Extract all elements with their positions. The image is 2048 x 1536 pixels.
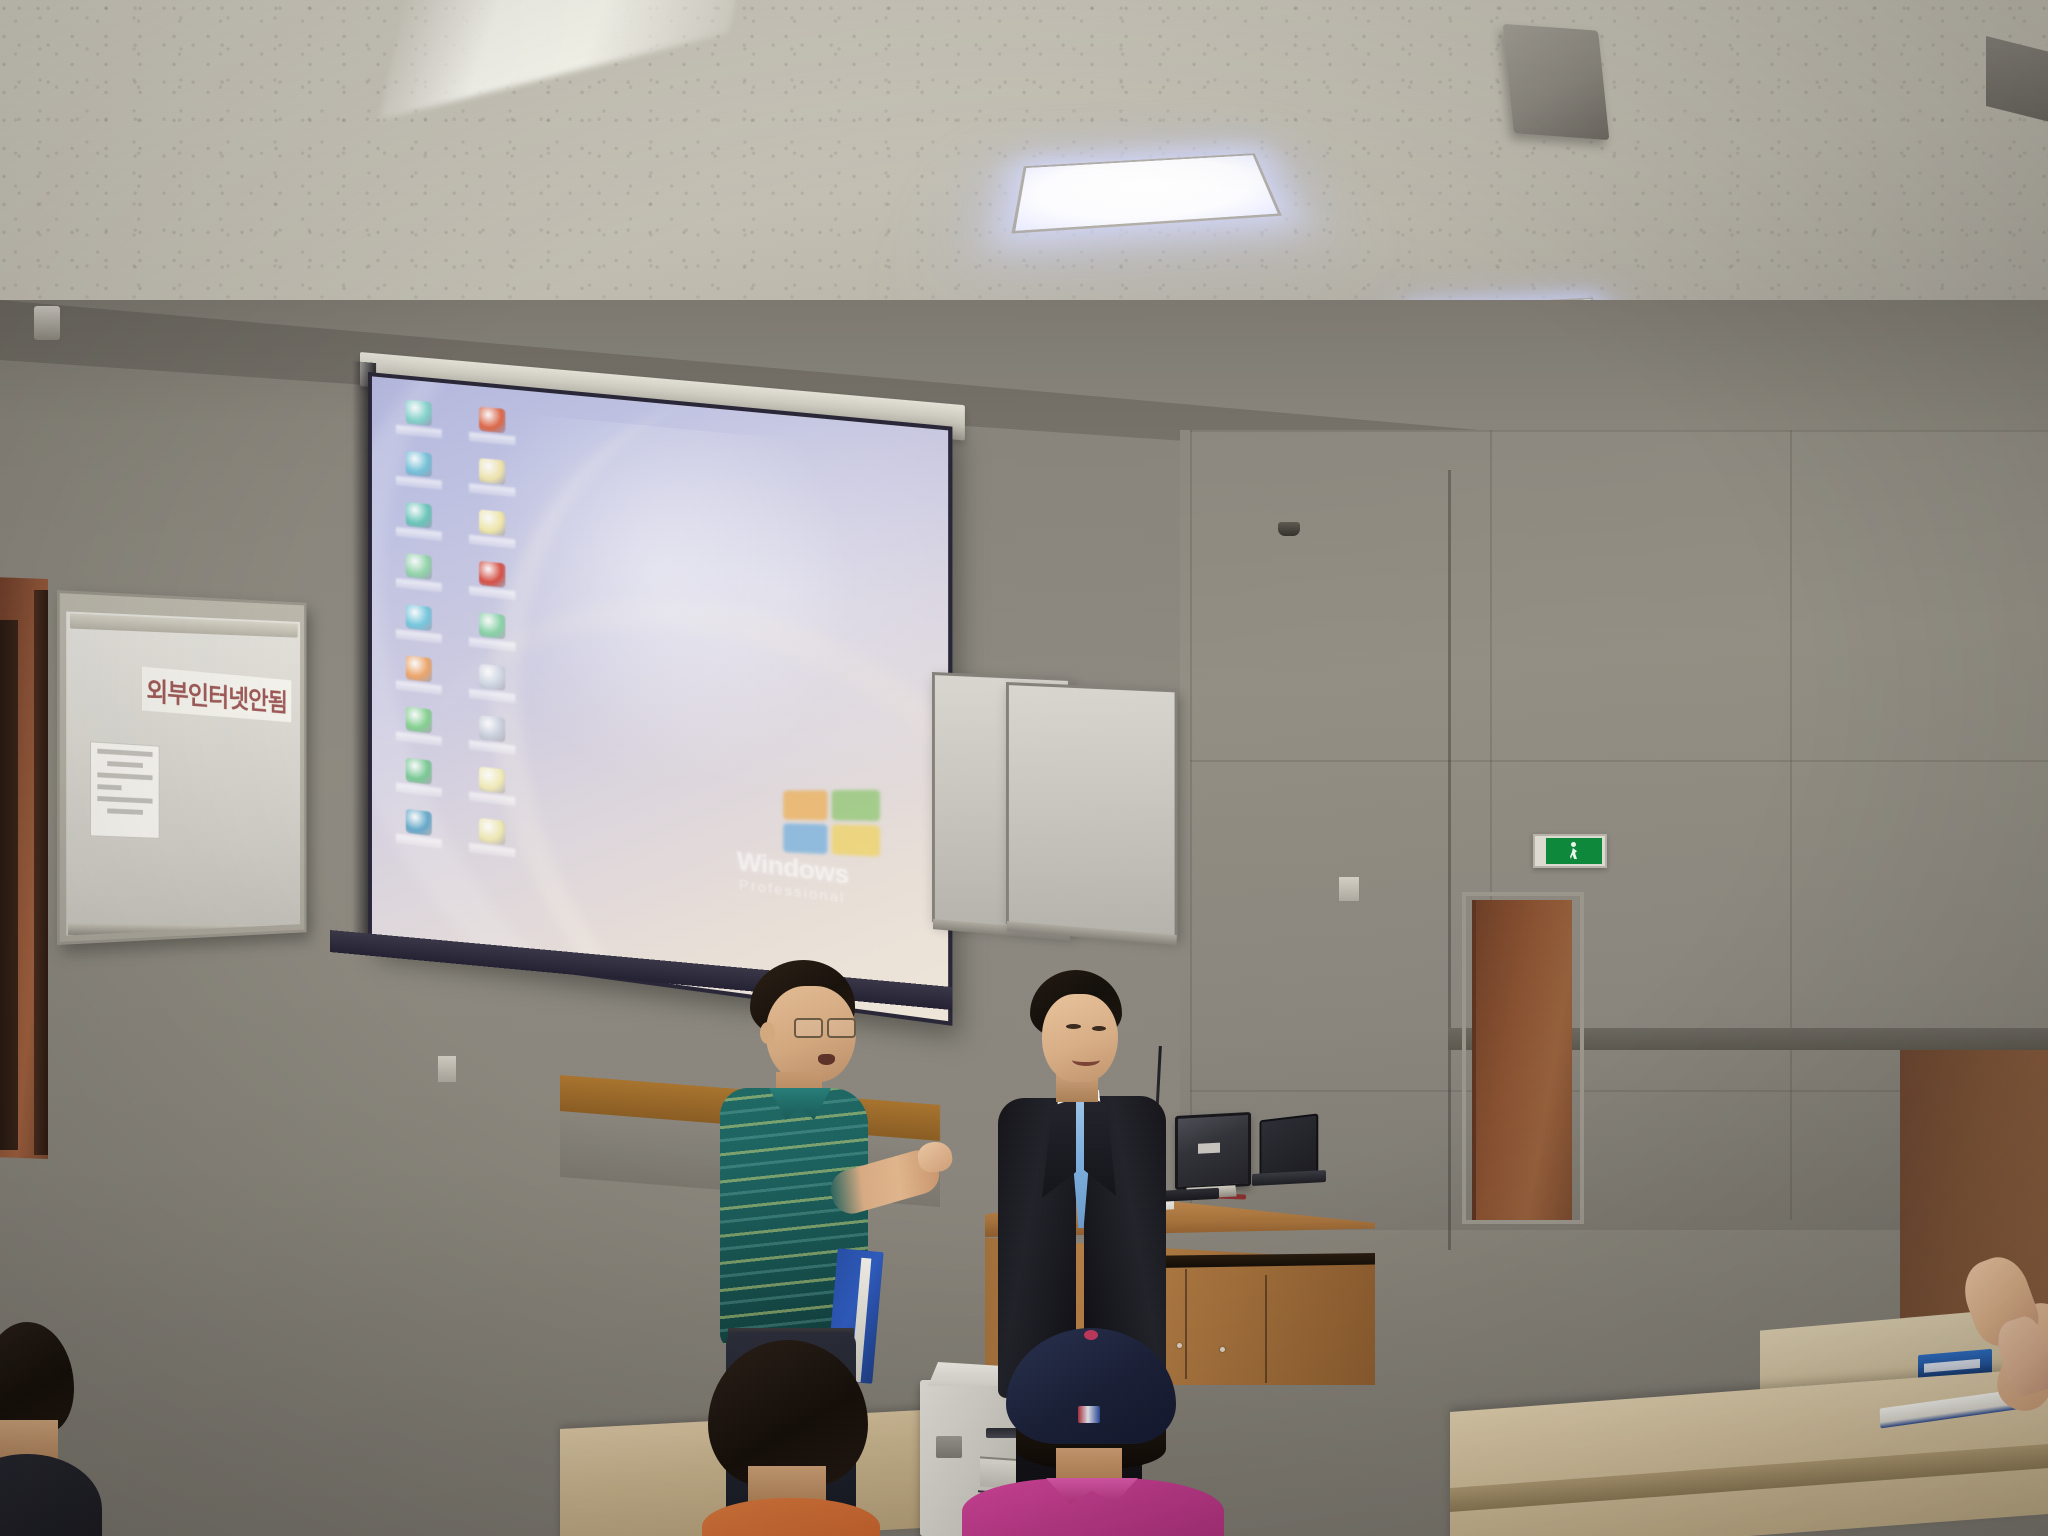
exit-sign bbox=[1533, 834, 1607, 868]
desktop-icon-glyph bbox=[406, 451, 432, 478]
desktop-icon-glyph bbox=[479, 766, 505, 793]
notice-line bbox=[97, 749, 152, 757]
audience-left bbox=[0, 1322, 98, 1536]
desktop-icon[interactable] bbox=[388, 602, 450, 640]
no-external-internet-sign: 외부인터넷안됨 bbox=[142, 667, 291, 723]
desktop-icon-glyph bbox=[479, 561, 505, 588]
guest-face bbox=[1042, 994, 1118, 1082]
desktop-icon-label bbox=[469, 432, 515, 442]
desktop-icon-label bbox=[396, 527, 442, 537]
desktop-icon-glyph bbox=[406, 655, 432, 682]
left-door-edge bbox=[34, 590, 48, 1155]
audience-orange-shirt bbox=[702, 1498, 880, 1536]
desktop-icon-label bbox=[396, 578, 442, 588]
eyeglasses-icon bbox=[794, 1018, 856, 1035]
desktop-icon-glyph bbox=[479, 407, 505, 434]
desktop-icon[interactable] bbox=[461, 610, 524, 648]
cabinet-door-seam bbox=[1265, 1275, 1267, 1383]
presenter-ear bbox=[760, 1022, 775, 1044]
notice-line bbox=[108, 808, 143, 814]
windows-watermark: Windows Professional bbox=[737, 779, 922, 926]
whiteboard-top-rail bbox=[70, 614, 298, 638]
desktop-icon-glyph bbox=[479, 612, 505, 639]
desktop-icon[interactable] bbox=[388, 449, 450, 486]
desktop-icon[interactable] bbox=[461, 713, 524, 752]
audience-shoulders bbox=[0, 1454, 102, 1536]
notice-line bbox=[97, 796, 152, 804]
desktop-icon[interactable] bbox=[461, 559, 524, 597]
desktop-icon-label bbox=[396, 629, 442, 639]
desktop-icon-glyph bbox=[406, 400, 432, 427]
back-door[interactable] bbox=[1472, 900, 1572, 1220]
right-whiteboard-2 bbox=[1006, 682, 1178, 938]
wall-corner-seam bbox=[1448, 470, 1451, 1250]
desktop-icon-label bbox=[396, 731, 442, 741]
posted-notice-paper bbox=[90, 741, 160, 839]
guest-smile bbox=[1072, 1054, 1100, 1066]
desktop-monitor[interactable] bbox=[1175, 1112, 1251, 1190]
notice-line bbox=[97, 772, 152, 780]
desktop-icon-label bbox=[469, 535, 515, 545]
ceiling-projector-mount bbox=[1503, 24, 1610, 140]
desktop-icon-glyph bbox=[406, 553, 432, 580]
desktop-icon[interactable] bbox=[388, 704, 450, 742]
cap-button-icon bbox=[1084, 1330, 1098, 1340]
desktop-icon-glyph bbox=[479, 818, 505, 846]
exit-sign-panel bbox=[1546, 838, 1602, 864]
projection-screen[interactable]: Windows Professional bbox=[368, 372, 952, 1026]
desktop-icon[interactable] bbox=[388, 398, 450, 435]
desktop-icon-glyph bbox=[479, 458, 505, 485]
desktop-icon[interactable] bbox=[388, 551, 450, 589]
desktop-icon-label bbox=[396, 782, 442, 793]
desktop-icon-label bbox=[469, 740, 515, 751]
desktop-icon-grid[interactable] bbox=[388, 398, 529, 855]
baseball-cap bbox=[1006, 1328, 1176, 1444]
whiteboard-surface: 외부인터넷안됨 bbox=[66, 611, 300, 935]
desktop-icon-glyph bbox=[406, 706, 432, 733]
left-door-shadow bbox=[0, 620, 18, 1150]
desktop-icon-label bbox=[469, 689, 515, 699]
desktop-icon-glyph bbox=[406, 758, 432, 785]
desktop-icon-label bbox=[396, 476, 442, 486]
notice-line bbox=[97, 784, 121, 790]
audience-cap bbox=[980, 1328, 1210, 1536]
notice-line bbox=[108, 761, 143, 768]
desktop-icon[interactable] bbox=[388, 653, 450, 691]
desktop-icon-glyph bbox=[406, 502, 432, 529]
desktop-icon-label bbox=[396, 680, 442, 690]
desktop-icon-glyph bbox=[479, 664, 505, 691]
desktop-icon-glyph bbox=[406, 604, 432, 631]
desktop-icon[interactable] bbox=[388, 755, 450, 794]
wall-outlet-plate[interactable] bbox=[437, 1055, 457, 1083]
desktop-icon-label bbox=[469, 637, 515, 647]
wall-speaker bbox=[34, 306, 60, 340]
desktop-icon-glyph bbox=[479, 715, 505, 742]
windows-logo-icon bbox=[783, 790, 880, 857]
running-person-icon bbox=[1569, 842, 1579, 860]
desktop-icon-label bbox=[469, 791, 515, 802]
guest-eye-right bbox=[1092, 1026, 1106, 1031]
security-camera-icon bbox=[1278, 522, 1300, 536]
wall-switch-plate[interactable] bbox=[1338, 876, 1360, 902]
desktop-icon-glyph bbox=[406, 809, 432, 836]
projected-desktop[interactable]: Windows Professional bbox=[372, 376, 948, 1021]
projector-hotspot bbox=[472, 409, 852, 809]
guest-eye-left bbox=[1066, 1024, 1081, 1029]
desktop-icon-label bbox=[396, 425, 442, 434]
desktop-icon-label bbox=[469, 483, 515, 493]
presenter-mouth bbox=[818, 1054, 835, 1065]
audience-head bbox=[0, 1322, 74, 1432]
desktop-icon[interactable] bbox=[461, 456, 524, 494]
left-whiteboard: 외부인터넷안됨 bbox=[57, 590, 307, 945]
audience-center bbox=[700, 1340, 880, 1536]
cabinet-knob[interactable] bbox=[1220, 1347, 1225, 1352]
mlb-logo-icon bbox=[1078, 1406, 1100, 1423]
monitor-brand-label bbox=[1198, 1143, 1220, 1154]
desktop-icon[interactable] bbox=[461, 764, 524, 803]
desktop-icon[interactable] bbox=[461, 662, 524, 700]
lecture-room-photo: 외부인터넷안됨 bbox=[0, 0, 2048, 1536]
desktop-icon-label bbox=[469, 586, 515, 596]
desktop-icon-glyph bbox=[479, 509, 505, 536]
desktop-icon[interactable] bbox=[388, 500, 450, 538]
whiteboard-marker-tray bbox=[68, 923, 300, 935]
desktop-icon[interactable] bbox=[461, 508, 524, 546]
desktop-icon[interactable] bbox=[461, 405, 524, 442]
audience-head bbox=[708, 1340, 868, 1486]
